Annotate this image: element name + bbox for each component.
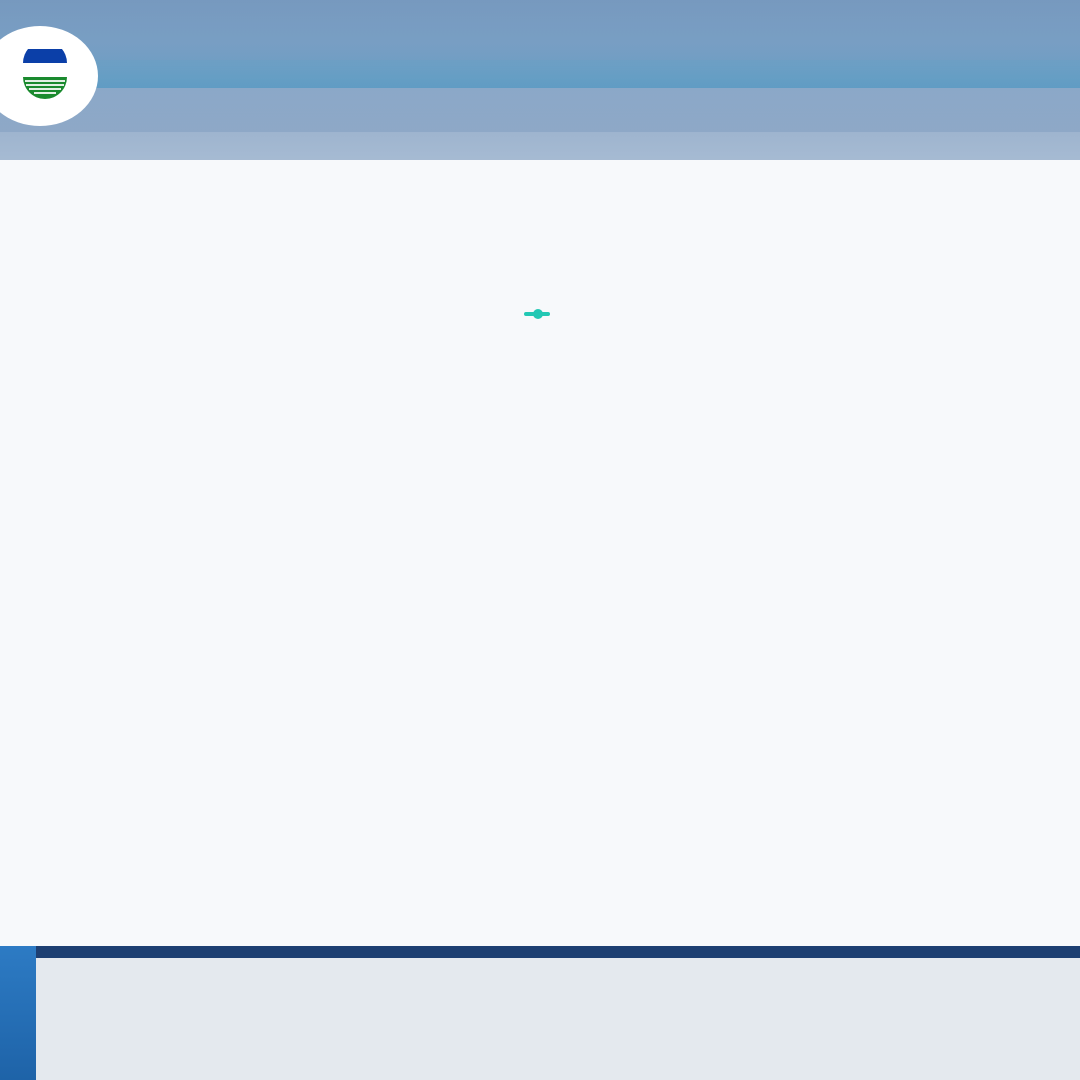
chart-legend-marker (524, 312, 550, 316)
sst-chart (24, 202, 1056, 310)
header-overlay-tint (0, 0, 1080, 160)
page-header (0, 0, 1080, 160)
legend-items (36, 958, 1080, 1080)
legend-body (36, 946, 1080, 1080)
legend-section (0, 946, 1080, 1080)
legend-note (36, 946, 1080, 958)
bmkg-logo-mark (17, 49, 73, 103)
legend-band (0, 946, 36, 1080)
